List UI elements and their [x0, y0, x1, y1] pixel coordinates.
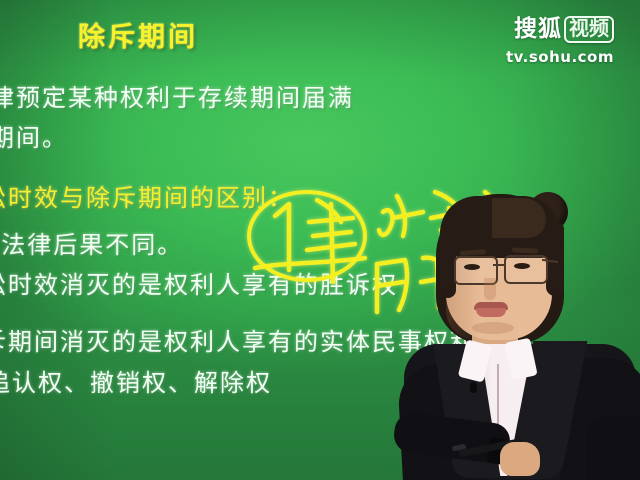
presenter-chin-shadow — [472, 322, 514, 334]
slide-line-7: 如追认权、撤销权、解除权 — [0, 363, 272, 398]
presenter-arm-right — [586, 416, 640, 480]
slide-title: 除斥期间 — [78, 15, 198, 54]
logo-url-text: tv.sohu.com — [506, 50, 614, 65]
presenter-hand-left — [500, 442, 540, 476]
presenter-hair-part — [492, 198, 546, 238]
video-frame: 除斥期间 法律预定某种权利于存续期间届满 的期间。 诉讼时效与除斥期间的区别： … — [0, 0, 640, 480]
slide-line-5: 诉讼时效消灭的是权利人享有的胜诉权 — [0, 265, 398, 300]
presenter-figure — [400, 186, 640, 480]
logo-product-badge: 视频 — [564, 16, 614, 43]
presenter-nose — [484, 278, 496, 300]
logo-wordmark-row: 搜狐 视频 — [506, 16, 614, 43]
slide-line-1: 法律预定某种权利于存续期间届满 — [0, 78, 354, 113]
logo-brand-text: 搜狐 — [514, 18, 562, 41]
presenter-lip-lower — [476, 308, 506, 317]
presenter-eye-right — [514, 263, 530, 269]
slide-line-2: 的期间。 — [0, 118, 68, 153]
slide-line-3: 诉讼时效与除斥期间的区别： — [0, 178, 294, 213]
slide-line-4: 1、法律后果不同。 — [0, 225, 183, 260]
presenter-eye-left — [464, 264, 480, 270]
eyeglasses-bridge — [493, 264, 505, 266]
sohu-tv-logo: 搜狐 视频 tv.sohu.com — [506, 16, 614, 65]
lapel-microphone — [470, 382, 477, 393]
